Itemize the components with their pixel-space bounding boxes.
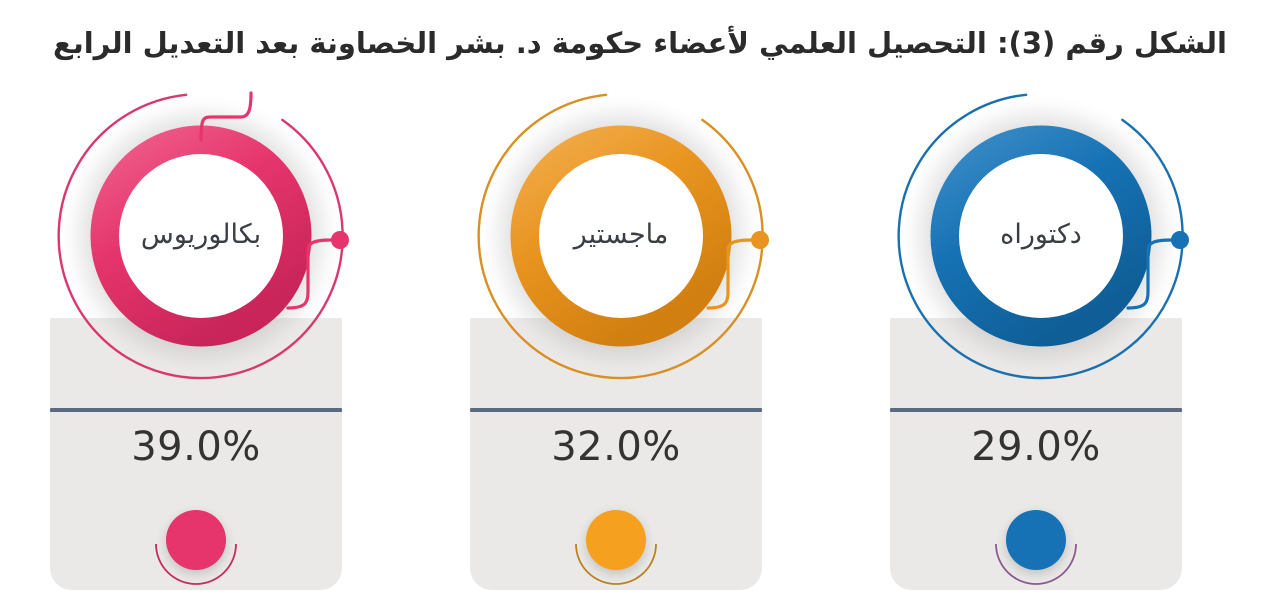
bottom-marker-dot [560, 500, 672, 600]
degree-label: ماجستير [526, 204, 716, 264]
card-divider [50, 408, 342, 412]
card-divider [890, 408, 1182, 412]
page-title: الشكل رقم (3): التحصيل العلمي لأعضاء حكو… [53, 26, 1227, 61]
bottom-marker-dot [140, 500, 252, 600]
stat-card-phd: دكتوراه 29.0% [842, 86, 1262, 600]
stat-cards-row: بكالوريوس 39.0% [0, 86, 1280, 600]
infographic-canvas: الشكل رقم (3): التحصيل العلمي لأعضاء حكو… [0, 0, 1280, 600]
title-bar: الشكل رقم (3): التحصيل العلمي لأعضاء حكو… [0, 0, 1280, 86]
degree-label: بكالوريوس [106, 204, 296, 264]
stat-card-bachelor: بكالوريوس 39.0% [2, 86, 422, 600]
degree-label: دكتوراه [946, 204, 1136, 264]
percentage-value: 39.0% [50, 424, 342, 470]
bottom-marker-dot [980, 500, 1092, 600]
percentage-value: 32.0% [470, 424, 762, 470]
percentage-value: 29.0% [890, 424, 1182, 470]
stat-card-master: ماجستير 32.0% [422, 86, 842, 600]
card-divider [470, 408, 762, 412]
